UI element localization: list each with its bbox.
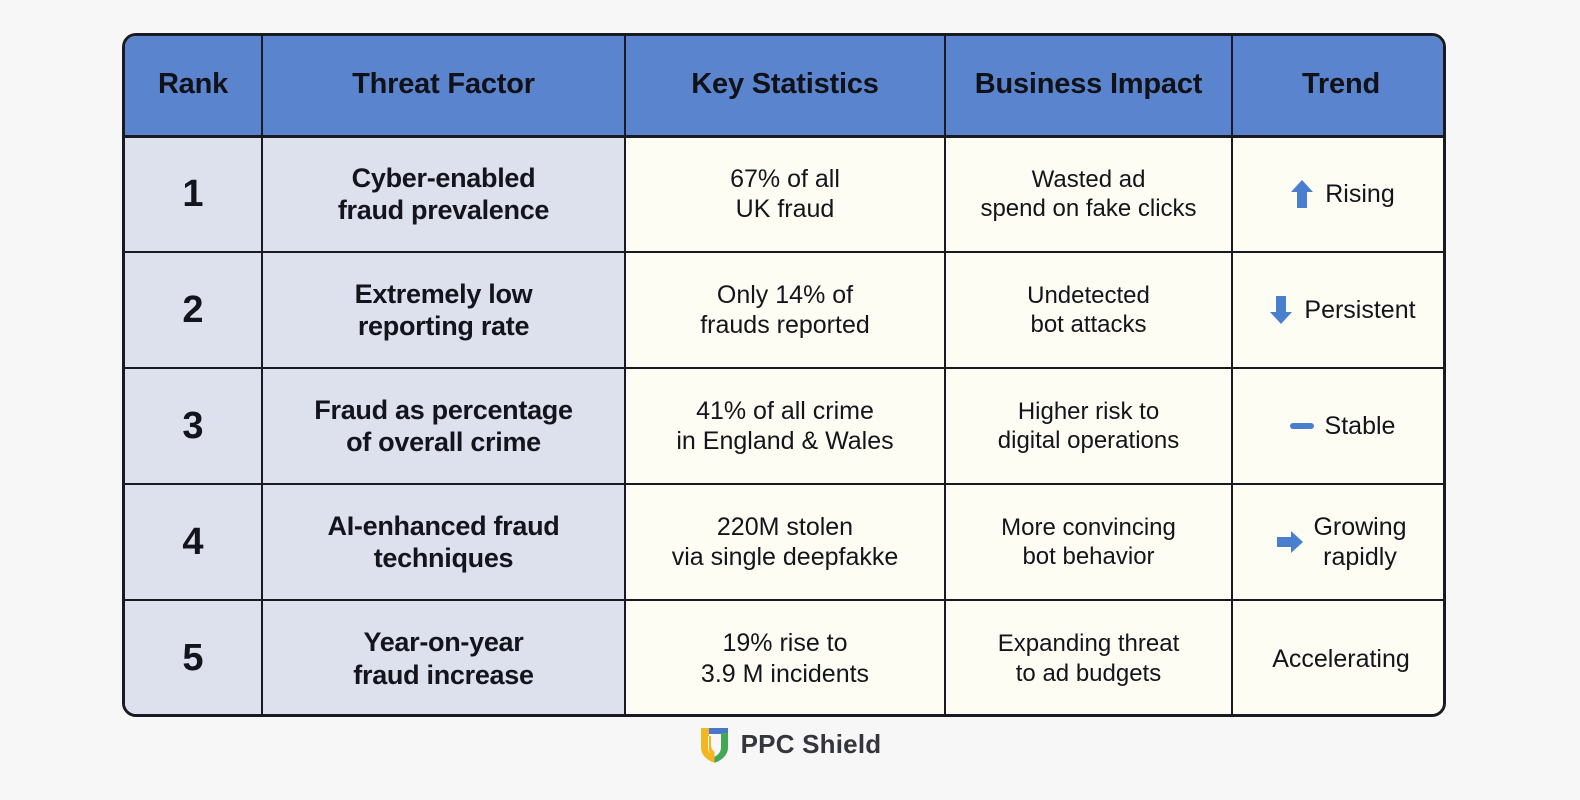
column-header-business-impact: Business Impact [945,36,1232,136]
trend-label: Stable [1325,411,1396,441]
column-header-key-statistics: Key Statistics [625,36,945,136]
cell-rank: 4 [125,484,262,600]
trend-group: Persistent [1243,293,1439,327]
trend-group: Rising [1243,177,1439,211]
cell-threat-factor: Fraud as percentage of overall crime [262,368,625,484]
table-body: 1 Cyber-enabled fraud prevalence 67% of … [125,136,1446,716]
infographic-page: Rank Threat Factor Key Statistics Busine… [0,0,1580,800]
shield-icon [699,726,730,763]
brand-logo: PPC Shield [0,726,1580,763]
cell-rank: 3 [125,368,262,484]
cell-key-statistics: 220M stolen via single deepfakke [625,484,945,600]
trend-label: Accelerating [1272,644,1410,674]
threat-table-container: Rank Threat Factor Key Statistics Busine… [122,33,1446,717]
cell-threat-factor: AI-enhanced fraud techniques [262,484,625,600]
trend-group: Stable [1243,409,1439,443]
trend-label: Persistent [1304,295,1415,325]
table-row: 3 Fraud as percentage of overall crime 4… [125,368,1446,484]
cell-key-statistics: Only 14% of frauds reported [625,252,945,368]
table-header: Rank Threat Factor Key Statistics Busine… [125,36,1446,136]
table-row: 4 AI-enhanced fraud techniques 220M stol… [125,484,1446,600]
cell-business-impact: Expanding threat to ad budgets [945,600,1232,716]
table-row: 5 Year-on-year fraud increase 19% rise t… [125,600,1446,716]
cell-trend: Growing rapidly [1232,484,1446,600]
trend-label: Growing rapidly [1313,512,1406,572]
cell-threat-factor: Year-on-year fraud increase [262,600,625,716]
arrow-down-icon [1266,293,1296,327]
cell-rank: 1 [125,136,262,252]
cell-threat-factor: Cyber-enabled fraud prevalence [262,136,625,252]
cell-threat-factor: Extremely low reporting rate [262,252,625,368]
table-row: 2 Extremely low reporting rate Only 14% … [125,252,1446,368]
column-header-rank: Rank [125,36,262,136]
cell-trend: Rising [1232,136,1446,252]
cell-key-statistics: 67% of all UK fraud [625,136,945,252]
cell-business-impact: More convincing bot behavior [945,484,1232,600]
dash-icon [1287,409,1317,443]
threat-table: Rank Threat Factor Key Statistics Busine… [125,36,1446,716]
table-row: 1 Cyber-enabled fraud prevalence 67% of … [125,136,1446,252]
cell-key-statistics: 19% rise to 3.9 M incidents [625,600,945,716]
arrow-right-icon [1275,525,1305,559]
cell-business-impact: Wasted ad spend on fake clicks [945,136,1232,252]
header-row: Rank Threat Factor Key Statistics Busine… [125,36,1446,136]
arrow-up-icon [1287,177,1317,211]
cell-business-impact: Undetected bot attacks [945,252,1232,368]
trend-group: Growing rapidly [1243,512,1439,572]
trend-label: Rising [1325,179,1394,209]
cell-trend: Persistent [1232,252,1446,368]
column-header-trend: Trend [1232,36,1446,136]
trend-group: Accelerating [1243,644,1439,674]
brand-name: PPC Shield [741,729,882,760]
cell-rank: 2 [125,252,262,368]
column-header-threat-factor: Threat Factor [262,36,625,136]
cell-trend: Stable [1232,368,1446,484]
cell-trend: Accelerating [1232,600,1446,716]
cell-key-statistics: 41% of all crime in England & Wales [625,368,945,484]
cell-rank: 5 [125,600,262,716]
cell-business-impact: Higher risk to digital operations [945,368,1232,484]
